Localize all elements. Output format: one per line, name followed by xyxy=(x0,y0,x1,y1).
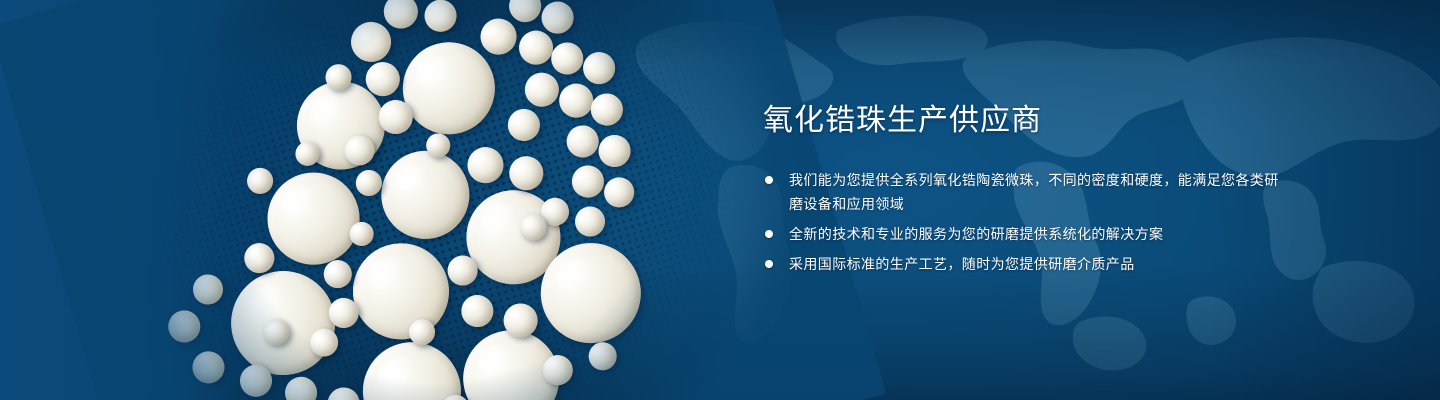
bead xyxy=(505,0,545,26)
bead xyxy=(587,90,627,130)
bead xyxy=(568,162,608,202)
bead-cluster xyxy=(53,0,823,400)
list-item-label: 采用国际标准的生产工艺，随时为您提供研磨介质产品 xyxy=(789,256,1135,272)
list-item: 我们能为您提供全系列氧化锆陶瓷微珠，不同的密度和硬度，能满足您各类研磨设备和应用… xyxy=(763,168,1283,216)
list-item-label: 我们能为您提供全系列氧化锆陶瓷微珠，不同的密度和硬度，能满足您各类研磨设备和应用… xyxy=(789,172,1279,212)
bead xyxy=(421,0,461,36)
bead xyxy=(585,339,620,374)
bead xyxy=(504,105,544,145)
page-title: 氧化锆珠生产供应商 xyxy=(763,104,1283,138)
hero-banner: 氧化锆珠生产供应商 我们能为您提供全系列氧化锆陶瓷微珠，不同的密度和硬度，能满足… xyxy=(0,0,1440,400)
list-item-label: 全新的技术和专业的服务为您的研磨提供系统化的解决方案 xyxy=(789,226,1163,242)
bead xyxy=(572,203,609,240)
bead xyxy=(189,271,226,308)
bead xyxy=(371,140,480,249)
product-photo-zirconia-beads xyxy=(53,0,823,400)
bead xyxy=(324,384,364,400)
bead xyxy=(346,17,395,66)
bead xyxy=(547,39,587,79)
bead xyxy=(244,165,276,197)
bead xyxy=(476,14,521,59)
banner-copy: 氧化锆珠生产供应商 我们能为您提供全系列氧化锆陶瓷微珠，不同的密度和硬度，能满足… xyxy=(763,104,1283,276)
bead xyxy=(579,48,619,88)
bead xyxy=(505,152,547,194)
bead xyxy=(601,174,638,211)
bullet-dot-icon xyxy=(765,230,773,238)
list-item: 采用国际标准的生产工艺，随时为您提供研磨介质产品 xyxy=(763,252,1283,276)
bead xyxy=(164,307,204,347)
bullet-dot-icon xyxy=(765,260,773,268)
bullet-dot-icon xyxy=(765,176,773,184)
list-item: 全新的技术和专业的服务为您的研磨提供系统化的解决方案 xyxy=(763,222,1283,246)
bead xyxy=(189,348,229,388)
bead xyxy=(463,143,508,188)
feature-list: 我们能为您提供全系列氧化锆陶瓷微珠，不同的密度和硬度，能满足您各类研磨设备和应用… xyxy=(763,168,1283,276)
bead xyxy=(563,122,603,162)
bead xyxy=(521,69,563,111)
bead xyxy=(458,291,498,331)
bead xyxy=(342,232,461,351)
bead xyxy=(595,131,635,171)
bead xyxy=(281,373,321,400)
